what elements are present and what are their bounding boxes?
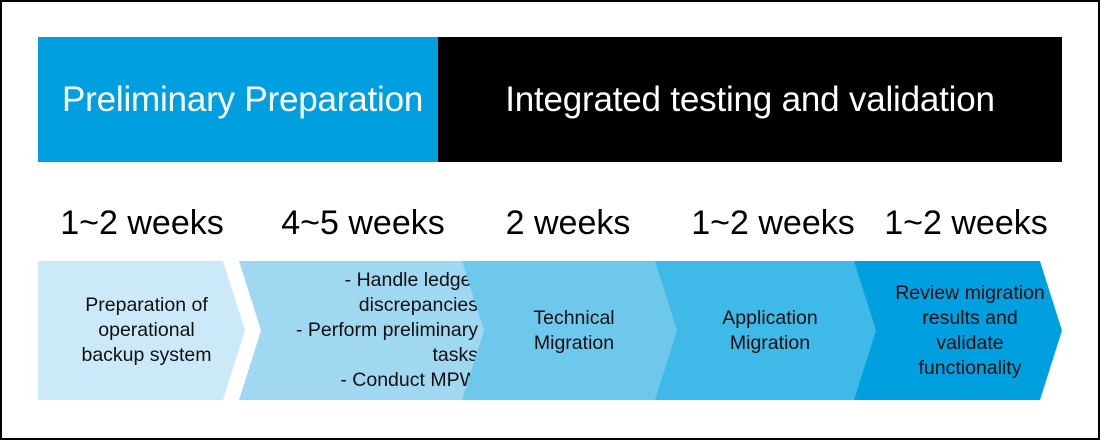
phase-header-bar: Preliminary PreparationIntegrated testin… (38, 37, 1062, 162)
step-ledger-and-preliminary-tasks: - Handle ledger discrepancies - Perform … (239, 261, 504, 400)
phase-label: Integrated testing and validation (505, 80, 995, 120)
phase-preliminary-preparation: Preliminary Preparation (38, 37, 438, 162)
diagram-canvas: Preliminary PreparationIntegrated testin… (0, 0, 1100, 440)
duration-step-4: 1~2 weeks (663, 192, 883, 254)
step-label: Review migration results and validate fu… (886, 281, 1054, 381)
duration-step-5: 1~2 weeks (856, 192, 1076, 254)
step-label: Application Migration (681, 306, 859, 356)
step-technical-migration: Technical Migration (462, 261, 682, 400)
step-chevron-row: Preparation of operational backup system… (38, 261, 1062, 400)
phase-integrated-testing-and-validation: Integrated testing and validation (438, 37, 1062, 162)
step-label: Technical Migration (488, 306, 660, 356)
step-review-migration-results: Review migration results and validate fu… (854, 261, 1062, 400)
step-label: Preparation of operational backup system (56, 293, 237, 368)
step-label: - Handle ledger discrepancies - Perform … (265, 268, 478, 393)
step-application-migration: Application Migration (655, 261, 881, 400)
phase-label: Preliminary Preparation (62, 80, 423, 120)
duration-label-row: 1~2 weeks4~5 weeks2 weeks1~2 weeks1~2 we… (38, 192, 1062, 254)
duration-step-2: 4~5 weeks (253, 192, 473, 254)
step-preparation-of-operational-backup-system: Preparation of operational backup system (38, 261, 245, 400)
duration-step-3: 2 weeks (458, 192, 678, 254)
duration-step-1: 1~2 weeks (32, 192, 252, 254)
